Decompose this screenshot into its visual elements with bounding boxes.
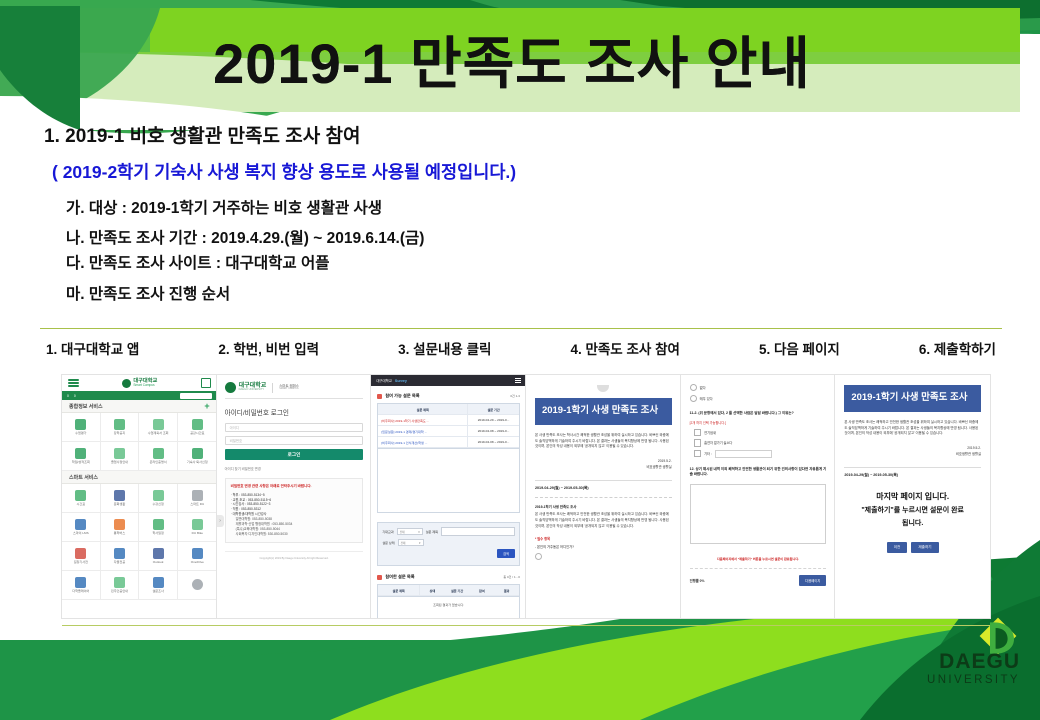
document-icon bbox=[75, 419, 86, 430]
question-12: 12. 상기 제시된 내역 이외 쾌적하고 안전한 생활관이 되기 위한 건의사… bbox=[690, 467, 827, 478]
survey-period: 2019-04-29(월) ~ 2019-05-30(목) bbox=[844, 467, 981, 478]
checkbox-icon[interactable] bbox=[694, 439, 702, 447]
media-player-icon bbox=[75, 577, 86, 588]
s1-bell-count: 0 bbox=[67, 394, 69, 398]
survey-table: 설문 제목 설문 기간 [비주최사] 2019-1학기 사생만족도 ... 20… bbox=[377, 403, 520, 449]
app-tile-label: 수업계획서 조회 bbox=[148, 432, 169, 435]
app-tile-label: 설문조사 bbox=[152, 590, 163, 593]
freeform-textarea[interactable] bbox=[690, 484, 827, 544]
app-tile[interactable]: 학점/성적조회 bbox=[62, 442, 101, 471]
contact-subline: 사회복지·디자인대학원: 530-850-5030 bbox=[231, 532, 358, 537]
table-row[interactable]: [입문설문] 2019-1 경제/경기대학 ... 2019-04-08 ~ 2… bbox=[378, 426, 519, 437]
login-button[interactable]: 로그인 bbox=[225, 449, 364, 460]
university-logo: DAEGU UNIVERSITY bbox=[918, 616, 1026, 692]
app-tile-label: 졸업사정안내 bbox=[111, 461, 128, 464]
logo-name: DAEGU bbox=[939, 651, 1020, 672]
s2-campus-sub: SMART CAMPUS bbox=[279, 388, 299, 391]
table-row[interactable]: [비주최사] 2019-1 인식개선(학생 ... 2019-04-08 ~ 2… bbox=[378, 437, 519, 448]
submit-button[interactable]: 제출하기 bbox=[911, 542, 938, 553]
checkbox-row[interactable]: 흡연자 없가기 싫소다 bbox=[690, 439, 827, 447]
col-title: 설문 제목 bbox=[378, 404, 468, 414]
app-tile-label: 스마트 DU bbox=[190, 503, 204, 506]
radio-label: 매우 있다 bbox=[700, 396, 713, 401]
s3-section-header-1: 참여 가능 설문 목록 0건 1-3 bbox=[377, 393, 520, 399]
bicycle-icon bbox=[192, 519, 203, 530]
app-tile-label: Outlook bbox=[153, 561, 164, 564]
id-input[interactable]: 아이디 bbox=[225, 423, 364, 432]
survey-intro-paragraph: 본 사생 만족도 조사는 쾌적하고 안전한 생활관 조성을 위하여 실시하고 있… bbox=[844, 420, 981, 437]
page-title: 2019-1 만족도 조사 안내 bbox=[213, 35, 811, 94]
search-button[interactable]: 검색 bbox=[497, 549, 515, 558]
table-empty-space bbox=[377, 449, 520, 513]
app-tile-label: OneDrive bbox=[191, 561, 204, 564]
table-header-row: 설문 제목 설문 기간 bbox=[378, 404, 519, 415]
app-tile[interactable]: 자율전공 bbox=[101, 542, 140, 571]
survey-intro-paragraph: 본 사생 만족도 조사는 학사시간 쾌적한 생활관 조성을 위하여 실시하고 있… bbox=[535, 433, 672, 450]
s1-grid-2: 시간표 문화생활 수강신청 스마트 DU 스마이 LMS 통학버스 학사일정 D… bbox=[62, 484, 217, 600]
s3-section-title-1: 참여 가능 설문 목록 bbox=[385, 393, 419, 399]
col-join: 참여 bbox=[469, 585, 494, 595]
app-tile[interactable]: 기숙사 퇴사신청 bbox=[178, 442, 217, 471]
steps-row: 1. 대구대학교 앱 2. 학번, 비번 입력 3. 설문내용 클릭 4. 만족… bbox=[40, 329, 1002, 358]
survey-org: 비호생활관 생활실 bbox=[844, 452, 981, 458]
participated-table: 설문 제목 상태 설문 기간 참여 결과 bbox=[377, 584, 520, 597]
app-tile-label: 길찾기사전 bbox=[74, 561, 88, 564]
empty-message: 조회된 결과가 없습니다. bbox=[433, 602, 464, 607]
filter-label-2: 설문 제목 bbox=[426, 529, 438, 534]
seal-icon bbox=[192, 579, 203, 590]
s1-mail-count: 0 bbox=[74, 394, 76, 398]
screenshot-step-6-submit: 2019-1학기 사생 만족도 조사 본 사생 만족도 조사는 쾌적하고 안전한… bbox=[835, 375, 990, 618]
s3-section-header-2: 참여한 설문 목록 총 0건 / 1 - 0 bbox=[377, 574, 520, 580]
survey-question: - 본인의 거주동은 어디인가? bbox=[535, 544, 672, 549]
notice-box: 비밀번호 변경 관련 사항은 아래로 연락주시기 바랍니다. · 학부 : 05… bbox=[225, 478, 364, 543]
s3-count-2: 총 0건 / 1 - 0 bbox=[503, 575, 520, 579]
radio-option[interactable] bbox=[535, 553, 542, 560]
facebook-icon bbox=[114, 490, 125, 501]
filter-label-1: 기대교과 bbox=[382, 529, 393, 534]
other-text-input[interactable] bbox=[715, 450, 772, 458]
password-input[interactable]: 비밀번호 bbox=[225, 436, 364, 445]
app-tile-label: 자율전공 bbox=[114, 561, 125, 564]
app-tile-label: 스마이 LMS bbox=[73, 532, 89, 535]
final-message-line-1: 마지막 페이지 입니다. bbox=[844, 489, 981, 504]
smart-du-icon bbox=[192, 490, 203, 501]
row-title[interactable]: [비주최사] 2019-1 인식개선(학생 ... bbox=[378, 437, 468, 447]
book-icon bbox=[75, 548, 86, 559]
body-item-ma: 마. 만족도 조사 진행 순서 bbox=[66, 285, 944, 304]
final-page-message: 마지막 페이지 입니다. "제출하기"를 누르시면 설문이 완료 됩니다. bbox=[844, 489, 981, 531]
survey-org: 비호생활관 생활실 bbox=[535, 465, 672, 471]
s1-grid-1: 수업평가 장학공지 수업계획서 조회 공강시간표 학점/성적조회 졸업사정안내 … bbox=[62, 413, 217, 471]
checkbox-icon[interactable] bbox=[694, 429, 702, 437]
s3-tab-survey[interactable]: Survey bbox=[395, 379, 407, 383]
s1-section-header-2: 스마트 서비스 bbox=[62, 471, 217, 484]
search-doc-icon bbox=[153, 419, 164, 430]
bullet-icon bbox=[377, 394, 382, 399]
slide-title-block: 2019-1 만족도 조사 안내 bbox=[0, 8, 1024, 120]
app-tile[interactable]: DU Bike bbox=[178, 513, 217, 542]
s3-brand: 대구대학교 bbox=[376, 378, 392, 383]
phone-speaker-icon bbox=[597, 385, 609, 392]
app-tile[interactable]: 다학플레이어 bbox=[62, 571, 101, 600]
add-icon[interactable]: + bbox=[204, 402, 209, 411]
filter-text-input[interactable] bbox=[441, 527, 515, 536]
app-tile-label: 수강신청 bbox=[152, 503, 163, 506]
clock-icon bbox=[153, 519, 164, 530]
slide-canvas: 2019-1 만족도 조사 안내 1. 2019-1 비호 생활관 만족도 조사… bbox=[0, 0, 1040, 720]
timetable-icon bbox=[75, 490, 86, 501]
s1-section-title-1: 종합정보 서비스 bbox=[69, 403, 103, 410]
s5-footer: 진행률 0% 다음페이지 bbox=[690, 568, 827, 586]
body-subheading: ( 2019-2학기 기숙사 사생 복지 향상 용도로 사용될 예정입니다.) bbox=[52, 162, 944, 183]
university-seal-icon bbox=[225, 382, 236, 393]
submit-warning: 다음페이지에서 "제출하기" 버튼을 누르시면 설문이 완료됩니다. bbox=[690, 557, 827, 562]
outlook-icon bbox=[153, 548, 164, 559]
col-period: 설문 기간 bbox=[468, 404, 519, 414]
app-tile-label: 학사일정 bbox=[152, 532, 163, 535]
app-tile[interactable]: 스마트 DU bbox=[178, 484, 217, 513]
s3-content: 참여 가능 설문 목록 0건 1-3 설문 제목 설문 기간 [비주최사] 20… bbox=[371, 386, 526, 618]
login-button-label: 로그인 bbox=[288, 452, 301, 458]
app-tile-label: 다학플레이어 bbox=[72, 590, 89, 593]
divider bbox=[272, 383, 273, 393]
body-item-da: 다. 만족도 조사 사이트 : 대구대학교 어플 bbox=[66, 254, 944, 273]
row-title[interactable]: [입문설문] 2019-1 경제/경기대학 ... bbox=[378, 426, 468, 436]
empty-message-row: 조회된 결과가 없습니다. bbox=[377, 597, 520, 618]
row-title[interactable]: [비주최사] 2019-1학기 사생만족도 ... bbox=[378, 415, 468, 425]
screenshot-step-3-survey-list: 대구대학교 Survey 참여 가능 설문 목록 0건 1-3 설문 제목 설문… bbox=[371, 375, 526, 618]
s3-count-1: 0건 1-3 bbox=[510, 394, 520, 398]
checkbox-label: 기타 : bbox=[704, 451, 712, 456]
survey-sub-title: 2019-1학기 사생 만족도 조사 bbox=[535, 504, 672, 509]
app-tile[interactable]: 길찾기사전 bbox=[62, 542, 101, 571]
screenshot-step-5-questions: 없다 매우 있다 11-2. (위 문항에서 있다, 2 를 선택한 사람은 답… bbox=[681, 375, 836, 618]
col-state: 상태 bbox=[420, 585, 445, 595]
question-11-2-note: [2개 까지 선택 가능합니다.] bbox=[690, 420, 827, 425]
filter-row-3: 검색 bbox=[382, 549, 515, 558]
app-tile[interactable]: 시간표 bbox=[62, 484, 101, 513]
body-text-block: 1. 2019-1 비호 생활관 만족도 조사 참여 ( 2019-2학기 기숙… bbox=[44, 126, 944, 315]
filter-label-3: 설문 상태 bbox=[382, 540, 394, 545]
final-message-line-3: 됩니다. bbox=[844, 517, 981, 530]
app-tile-label: 수업평가 bbox=[75, 432, 86, 435]
col-result: 결과 bbox=[494, 585, 519, 595]
checkbox-row-other[interactable]: 기타 : bbox=[690, 450, 827, 458]
screenshot-step-1-app-home: 대구대학교 Smart Campus 0 0 종합정보 서비스 + 수업평가 장… bbox=[62, 375, 217, 618]
logo-subname: UNIVERSITY bbox=[927, 675, 1020, 687]
col-period: 설문 기간 bbox=[445, 585, 470, 595]
body-item-na: 나. 만족도 조사 기간 : 2019.4.29.(월) ~ 2019.6.14… bbox=[66, 229, 944, 248]
radio-icon[interactable] bbox=[690, 384, 697, 391]
app-tile[interactable]: 수강신청 bbox=[139, 484, 178, 513]
survey-icon bbox=[153, 577, 164, 588]
app-tile-label: 학점/성적조회 bbox=[72, 461, 90, 464]
app-tile-label: 민주인공안내 bbox=[111, 590, 128, 593]
s3-appbar: 대구대학교 Survey bbox=[371, 375, 526, 386]
s1-section-header-1: 종합정보 서비스 + bbox=[62, 400, 217, 413]
final-buttons: 이전 제출하기 bbox=[844, 542, 981, 553]
step-label-4: 4. 만족도 조사 참여 bbox=[570, 338, 679, 358]
survey-title-banner: 2019-1학기 사생 만족도 조사 bbox=[844, 385, 981, 412]
find-account-link[interactable]: 아이디 찾기 비밀번호 변경 bbox=[225, 466, 364, 471]
checkbox-label: 흡연자 없가기 싫소다 bbox=[704, 440, 732, 445]
bus-icon bbox=[114, 519, 125, 530]
filter-row-1: 기대교과 전체 설문 제목 bbox=[382, 527, 515, 536]
app-tile[interactable]: 설문조사 bbox=[139, 571, 178, 600]
required-marker: * 필수 항목 bbox=[535, 536, 672, 541]
app-tile[interactable]: 공강시간표 bbox=[178, 413, 217, 442]
prev-button[interactable]: 이전 bbox=[887, 542, 908, 553]
step-label-1: 1. 대구대학교 앱 bbox=[46, 338, 139, 358]
calendar-icon bbox=[192, 448, 203, 459]
graduation-cap-icon bbox=[114, 448, 125, 459]
checkbox-label: 연기냄새 bbox=[704, 430, 716, 435]
hamburger-menu-icon[interactable] bbox=[515, 377, 521, 384]
s3-section-title-2: 참여한 설문 목록 bbox=[385, 574, 414, 580]
steps-block: 1. 대구대학교 앱 2. 학번, 비번 입력 3. 설문내용 클릭 4. 만족… bbox=[40, 328, 1002, 358]
filter-panel: 기대교과 전체 설문 제목 설문 상태 전체 검색 bbox=[377, 522, 520, 566]
app-tile[interactable]: 장학공지 bbox=[101, 413, 140, 442]
app-tile[interactable]: 스마이 LMS bbox=[62, 513, 101, 542]
notice-red-text: 비밀번호 변경 관련 사항은 아래로 연락주시기 바랍니다. bbox=[231, 484, 358, 489]
filter-select-2[interactable]: 전체 bbox=[398, 539, 424, 546]
app-tile[interactable]: 수업계획서 조회 bbox=[139, 413, 178, 442]
next-page-button[interactable]: 다음페이지 bbox=[799, 575, 826, 586]
body-heading: 1. 2019-1 비호 생활관 만족도 조사 참여 bbox=[44, 126, 944, 149]
filter-row-2: 설문 상태 전체 bbox=[382, 539, 515, 546]
app-tile[interactable]: 민주인공안내 bbox=[101, 571, 140, 600]
monitor-icon bbox=[75, 519, 86, 530]
clock-icon bbox=[192, 419, 203, 430]
screenshots-bottom-divider bbox=[62, 625, 990, 626]
s1-statusbar: 0 0 bbox=[62, 391, 217, 400]
app-tile[interactable]: 온라인증명서 bbox=[139, 442, 178, 471]
checkbox-icon[interactable] bbox=[694, 450, 702, 458]
divider bbox=[535, 497, 672, 498]
radio-row[interactable]: 없다 bbox=[690, 384, 827, 391]
hamburger-menu-icon[interactable] bbox=[68, 377, 79, 388]
survey-date-block: 2019.5.2. 비호생활관 생활실 bbox=[535, 459, 672, 471]
app-tile-label: 문화생활 bbox=[114, 503, 125, 506]
app-tile-label: 통학버스 bbox=[114, 532, 125, 535]
university-seal-icon bbox=[122, 379, 131, 388]
app-tile-label: 공강시간표 bbox=[190, 432, 204, 435]
table-header-row: 설문 제목 상태 설문 기간 참여 결과 bbox=[378, 585, 519, 596]
app-tile[interactable]: 학사일정 bbox=[139, 513, 178, 542]
survey-title-banner: 2019-1학기 사생 만족도 조사 bbox=[535, 398, 672, 425]
table-row[interactable]: [비주최사] 2019-1학기 사생만족도 ... 2019-04-29 ~ 2… bbox=[378, 415, 519, 426]
radio-row[interactable]: 매우 있다 bbox=[690, 395, 827, 402]
app-tile[interactable]: 통학버스 bbox=[101, 513, 140, 542]
step-label-6: 6. 제출학하기 bbox=[919, 338, 996, 358]
collapse-arrow-icon[interactable]: › bbox=[217, 515, 224, 527]
final-message-line-2: "제출하기"를 누르시면 설문이 완료 bbox=[844, 504, 981, 517]
pencil-icon bbox=[114, 548, 125, 559]
app-tile-label: 온라인증명서 bbox=[150, 461, 167, 464]
radio-label: 없다 bbox=[700, 385, 706, 390]
question-11-2: 11-2. (위 문항에서 있다, 2 를 선택한 사람은 답답 바랍니다.) … bbox=[690, 411, 827, 417]
s1-brand: 대구대학교 Smart Campus bbox=[79, 379, 201, 388]
survey-date-block: 2019.5.2. 비호생활관 생활실 bbox=[844, 446, 981, 458]
screenshots-strip: 대구대학교 Smart Campus 0 0 종합정보 서비스 + 수업평가 장… bbox=[62, 375, 990, 618]
s1-appbar: 대구대학교 Smart Campus bbox=[62, 375, 217, 391]
progress-label: 진행률 0% bbox=[690, 578, 705, 583]
app-tile[interactable] bbox=[178, 571, 217, 600]
survey-sub-paragraph: 본 사생 만족도 조사는 쾌적하고 안전한 생활관 조성을 위하여 실시하고 있… bbox=[535, 512, 672, 529]
app-tile[interactable]: 졸업사정안내 bbox=[101, 442, 140, 471]
pw-placeholder: 비밀번호 bbox=[230, 438, 242, 443]
copyright-text: Copyright(c) 2019 By Daegu University Al… bbox=[225, 551, 364, 560]
col-title: 설문 제목 bbox=[378, 585, 420, 595]
login-title: 아이디/비밀번호 로그인 bbox=[225, 407, 364, 417]
row-period: 2019-04-08 ~ 2019-0... bbox=[468, 437, 519, 447]
step-label-2: 2. 학번, 비번 입력 bbox=[218, 338, 319, 358]
phone-icon bbox=[114, 577, 125, 588]
onedrive-icon bbox=[192, 548, 203, 559]
radio-icon[interactable] bbox=[690, 395, 697, 402]
survey-period: 2019-04-29(월) ~ 2019-05-30(목) bbox=[535, 480, 672, 491]
edit-icon bbox=[153, 490, 164, 501]
external-link-icon[interactable] bbox=[201, 378, 211, 388]
app-tile-label: 기숙사 퇴사신청 bbox=[187, 461, 208, 464]
report-icon bbox=[75, 448, 86, 459]
app-tile-label: 시간표 bbox=[77, 503, 86, 506]
body-item-ga: 가. 대상 : 2019-1학기 거주하는 비호 생활관 사생 bbox=[66, 199, 944, 218]
app-tile[interactable]: 문화생활 bbox=[101, 484, 140, 513]
s1-search-field[interactable] bbox=[180, 393, 212, 399]
s1-brand-subtitle: Smart Campus bbox=[133, 384, 157, 388]
app-tile-label: 장학공지 bbox=[114, 432, 125, 435]
row-period: 2019-04-29 ~ 2019-0... bbox=[468, 415, 519, 425]
app-tile[interactable]: 수업평가 bbox=[62, 413, 101, 442]
app-tile[interactable]: Outlook bbox=[139, 542, 178, 571]
bullet-icon bbox=[377, 575, 382, 580]
certificate-icon bbox=[153, 448, 164, 459]
screenshot-step-4-survey-intro: 2019-1학기 사생 만족도 조사 본 사생 만족도 조사는 학사시간 쾌적한… bbox=[526, 375, 681, 618]
s2-brand-sub: DAEGU UNIVERSITY bbox=[239, 389, 267, 392]
step-label-5: 5. 다음 페이지 bbox=[759, 338, 840, 358]
clipboard-icon bbox=[114, 419, 125, 430]
app-tile-label: DU Bike bbox=[192, 532, 203, 535]
s1-section-title-2: 스마트 서비스 bbox=[69, 474, 98, 481]
screenshot-step-2-login: 대구대학교 DAEGU UNIVERSITY 스마트 캠퍼스 SMART CAM… bbox=[217, 375, 372, 618]
row-period: 2019-04-08 ~ 2019-0... bbox=[468, 426, 519, 436]
app-tile[interactable]: OneDrive bbox=[178, 542, 217, 571]
s2-brand-header: 대구대학교 DAEGU UNIVERSITY 스마트 캠퍼스 SMART CAM… bbox=[225, 382, 364, 399]
filter-select-1[interactable]: 전체 bbox=[397, 528, 423, 535]
checkbox-row[interactable]: 연기냄새 bbox=[690, 429, 827, 437]
id-placeholder: 아이디 bbox=[230, 425, 239, 430]
step-label-3: 3. 설문내용 클릭 bbox=[398, 338, 491, 358]
